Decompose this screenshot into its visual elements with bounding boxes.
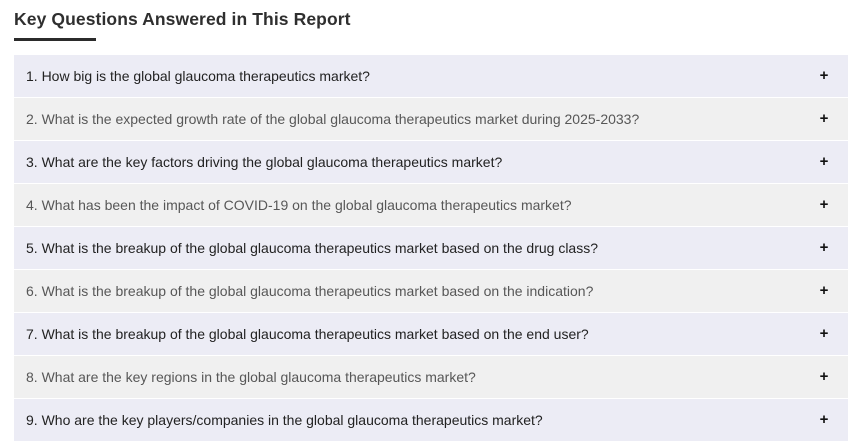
- plus-icon[interactable]: +: [816, 283, 832, 299]
- faq-item-8[interactable]: 8. What are the key regions in the globa…: [14, 356, 848, 398]
- faq-question-text: 6. What is the breakup of the global gla…: [26, 282, 816, 300]
- page-title: Key Questions Answered in This Report: [14, 8, 351, 30]
- faq-page: Key Questions Answered in This Report 1.…: [0, 0, 858, 445]
- plus-icon[interactable]: +: [816, 111, 832, 127]
- faq-question-text: 4. What has been the impact of COVID-19 …: [26, 196, 816, 214]
- plus-icon[interactable]: +: [816, 412, 832, 428]
- faq-question-text: 5. What is the breakup of the global gla…: [26, 239, 816, 257]
- title-underline-accent: [14, 38, 96, 41]
- faq-item-1[interactable]: 1. How big is the global glaucoma therap…: [14, 55, 848, 97]
- faq-question-text: 3. What are the key factors driving the …: [26, 153, 816, 171]
- faq-question-text: 1. How big is the global glaucoma therap…: [26, 67, 816, 85]
- faq-question-text: 9. Who are the key players/companies in …: [26, 411, 816, 429]
- faq-accordion-list: 1. How big is the global glaucoma therap…: [14, 55, 848, 442]
- plus-icon[interactable]: +: [816, 154, 832, 170]
- faq-item-9[interactable]: 9. Who are the key players/companies in …: [14, 399, 848, 441]
- faq-item-7[interactable]: 7. What is the breakup of the global gla…: [14, 313, 848, 355]
- faq-item-2[interactable]: 2. What is the expected growth rate of t…: [14, 98, 848, 140]
- faq-question-text: 8. What are the key regions in the globa…: [26, 368, 816, 386]
- faq-question-text: 7. What is the breakup of the global gla…: [26, 325, 816, 343]
- plus-icon[interactable]: +: [816, 68, 832, 84]
- plus-icon[interactable]: +: [816, 369, 832, 385]
- faq-item-4[interactable]: 4. What has been the impact of COVID-19 …: [14, 184, 848, 226]
- faq-item-5[interactable]: 5. What is the breakup of the global gla…: [14, 227, 848, 269]
- faq-item-3[interactable]: 3. What are the key factors driving the …: [14, 141, 848, 183]
- plus-icon[interactable]: +: [816, 197, 832, 213]
- plus-icon[interactable]: +: [816, 240, 832, 256]
- faq-question-text: 2. What is the expected growth rate of t…: [26, 110, 816, 128]
- plus-icon[interactable]: +: [816, 326, 832, 342]
- faq-item-6[interactable]: 6. What is the breakup of the global gla…: [14, 270, 848, 312]
- heading-block: Key Questions Answered in This Report: [14, 8, 351, 41]
